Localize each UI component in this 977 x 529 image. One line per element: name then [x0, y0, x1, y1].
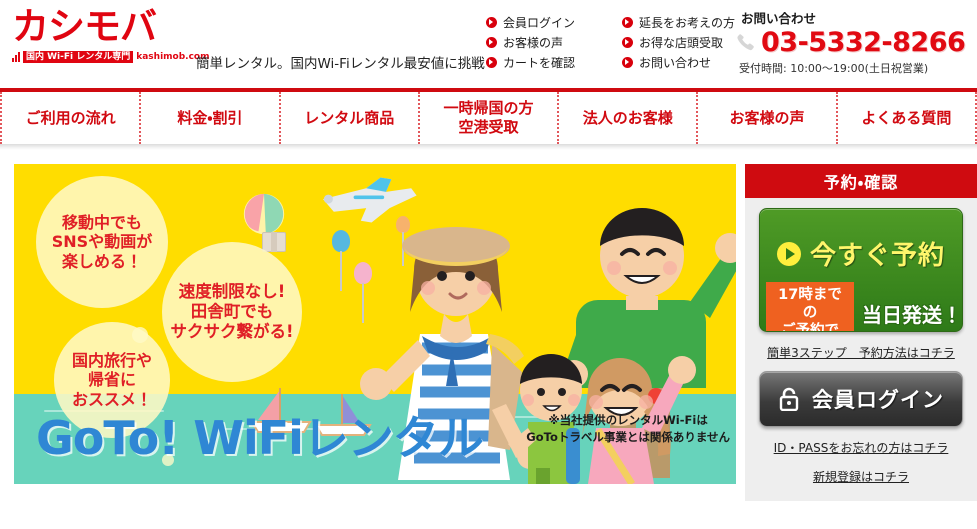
- page-root: カシモバ 国内 Wi-Fi レンタル専門 kashimob.com 簡単レンタル…: [0, 0, 977, 529]
- chevron-right-circle-icon: [622, 17, 633, 28]
- hero-disclaimer: ※当社提供のレンタルWi-Fiは GoToトラベル事業とは関係ありません: [526, 412, 730, 446]
- reservation-sidebar: 予約・確認 今すぐ予約 17時までの ご予約で 当日発送！ 簡単3ステップ 予約…: [745, 164, 977, 501]
- hero-carousel-slide[interactable]: 移動中でも SNSや動画が 楽しめる！ 速度制限なし! 田舎町でも サクサク繋が…: [14, 164, 736, 484]
- quick-links: 会員ログイン 延長をお考えの方 お客様の声 お得な店頭受取 カートを確認 お問い…: [486, 12, 762, 72]
- hero-bubble-dot: [132, 327, 148, 343]
- reserve-now-label: 今すぐ予約: [810, 235, 945, 272]
- logo-subline: 国内 Wi-Fi レンタル専門 kashimob.com: [12, 50, 192, 63]
- quick-link-cart[interactable]: カートを確認: [486, 52, 622, 72]
- balloon-icon: [332, 230, 350, 252]
- main-navigation: ご利用の流れ 料金・割引 レンタル商品 一時帰国の方 空港受取 法人のお客様 お…: [0, 88, 977, 144]
- member-login-button[interactable]: 会員ログイン: [759, 371, 963, 427]
- hero-bubble-2: 速度制限なし! 田舎町でも サクサク繋がる!: [162, 242, 302, 382]
- chevron-right-circle-icon: [486, 17, 497, 28]
- badge-deadline: 17時までの ご予約で: [766, 282, 854, 332]
- member-login-label: 会員ログイン: [812, 384, 944, 414]
- hero-title: GoTo! WiFiレンタル: [36, 412, 483, 464]
- nav-item-how-to-use[interactable]: ご利用の流れ: [0, 92, 139, 144]
- nav-item-pricing[interactable]: 料金・割引: [139, 92, 278, 144]
- nav-item-customer-voices[interactable]: お客様の声: [696, 92, 835, 144]
- phone-handset-icon: [735, 32, 757, 54]
- quick-link-label: お得な店頭受取: [639, 34, 723, 51]
- same-day-shipping-badge: 17時までの ご予約で 当日発送！: [766, 282, 962, 332]
- contact-phone-row: 03-5332-8266: [735, 28, 967, 58]
- chevron-right-circle-icon: [486, 37, 497, 48]
- lock-icon: [778, 387, 800, 411]
- nav-item-faq[interactable]: よくある質問: [836, 92, 977, 144]
- quick-link-label: お客様の声: [503, 34, 563, 51]
- main-content: 移動中でも SNSや動画が 楽しめる！ 速度制限なし! 田舎町でも サクサク繋が…: [0, 150, 977, 525]
- nav-item-corporate[interactable]: 法人のお客様: [557, 92, 696, 144]
- site-header: カシモバ 国内 Wi-Fi レンタル専門 kashimob.com 簡単レンタル…: [0, 0, 977, 88]
- chevron-right-circle-icon: [486, 57, 497, 68]
- quick-link-member-login[interactable]: 会員ログイン: [486, 12, 622, 32]
- chevron-right-circle-icon: [622, 57, 633, 68]
- logo-wordmark: カシモバ: [12, 6, 192, 48]
- nav-item-airport-pickup[interactable]: 一時帰国の方 空港受取: [418, 92, 557, 144]
- quick-link-voices[interactable]: お客様の声: [486, 32, 622, 52]
- contact-block: お問い合わせ 03-5332-8266 受付時間: 10:00〜19:00(土日…: [735, 8, 967, 76]
- chevron-right-circle-icon: [622, 37, 633, 48]
- quick-link-label: 延長をお考えの方: [639, 14, 735, 31]
- reserve-now-button[interactable]: 今すぐ予約 17時までの ご予約で 当日発送！: [759, 208, 963, 332]
- new-registration-link[interactable]: 新規登録はコチラ: [759, 468, 963, 485]
- package-box-icon: [262, 232, 286, 252]
- how-to-reserve-link[interactable]: 簡単3ステップ 予約方法はコチラ: [759, 344, 963, 361]
- forgot-credentials-link[interactable]: ID・PASSをお忘れの方はコチラ: [759, 439, 963, 456]
- quick-link-label: 会員ログイン: [503, 14, 575, 31]
- logo-tag: 国内 Wi-Fi レンタル専門: [23, 51, 133, 63]
- quick-link-label: カートを確認: [503, 54, 575, 71]
- play-circle-icon: [777, 242, 801, 266]
- contact-phone-number[interactable]: 03-5332-8266: [761, 28, 965, 58]
- nav-item-rental-products[interactable]: レンタル商品: [279, 92, 418, 144]
- quick-link-label: お問い合わせ: [639, 54, 711, 71]
- wifi-signal-icon: [12, 52, 20, 62]
- beach-ball-icon: [242, 192, 286, 236]
- sidebar-heading: 予約・確認: [745, 164, 977, 198]
- sidebar-body: 今すぐ予約 17時までの ご予約で 当日発送！ 簡単3ステップ 予約方法はコチラ…: [745, 198, 977, 501]
- site-logo[interactable]: カシモバ 国内 Wi-Fi レンタル専門 kashimob.com: [12, 6, 192, 63]
- badge-same-day: 当日発送！: [862, 299, 962, 328]
- hero-bubble-1: 移動中でも SNSや動画が 楽しめる！: [36, 176, 168, 308]
- contact-label: お問い合わせ: [741, 8, 967, 27]
- contact-hours: 受付時間: 10:00〜19:00(土日祝営業): [739, 60, 967, 76]
- site-tagline: 簡単レンタル。国内Wi-Fiレンタル最安値に挑戦: [196, 52, 485, 72]
- reserve-now-label-row: 今すぐ予約: [760, 209, 962, 272]
